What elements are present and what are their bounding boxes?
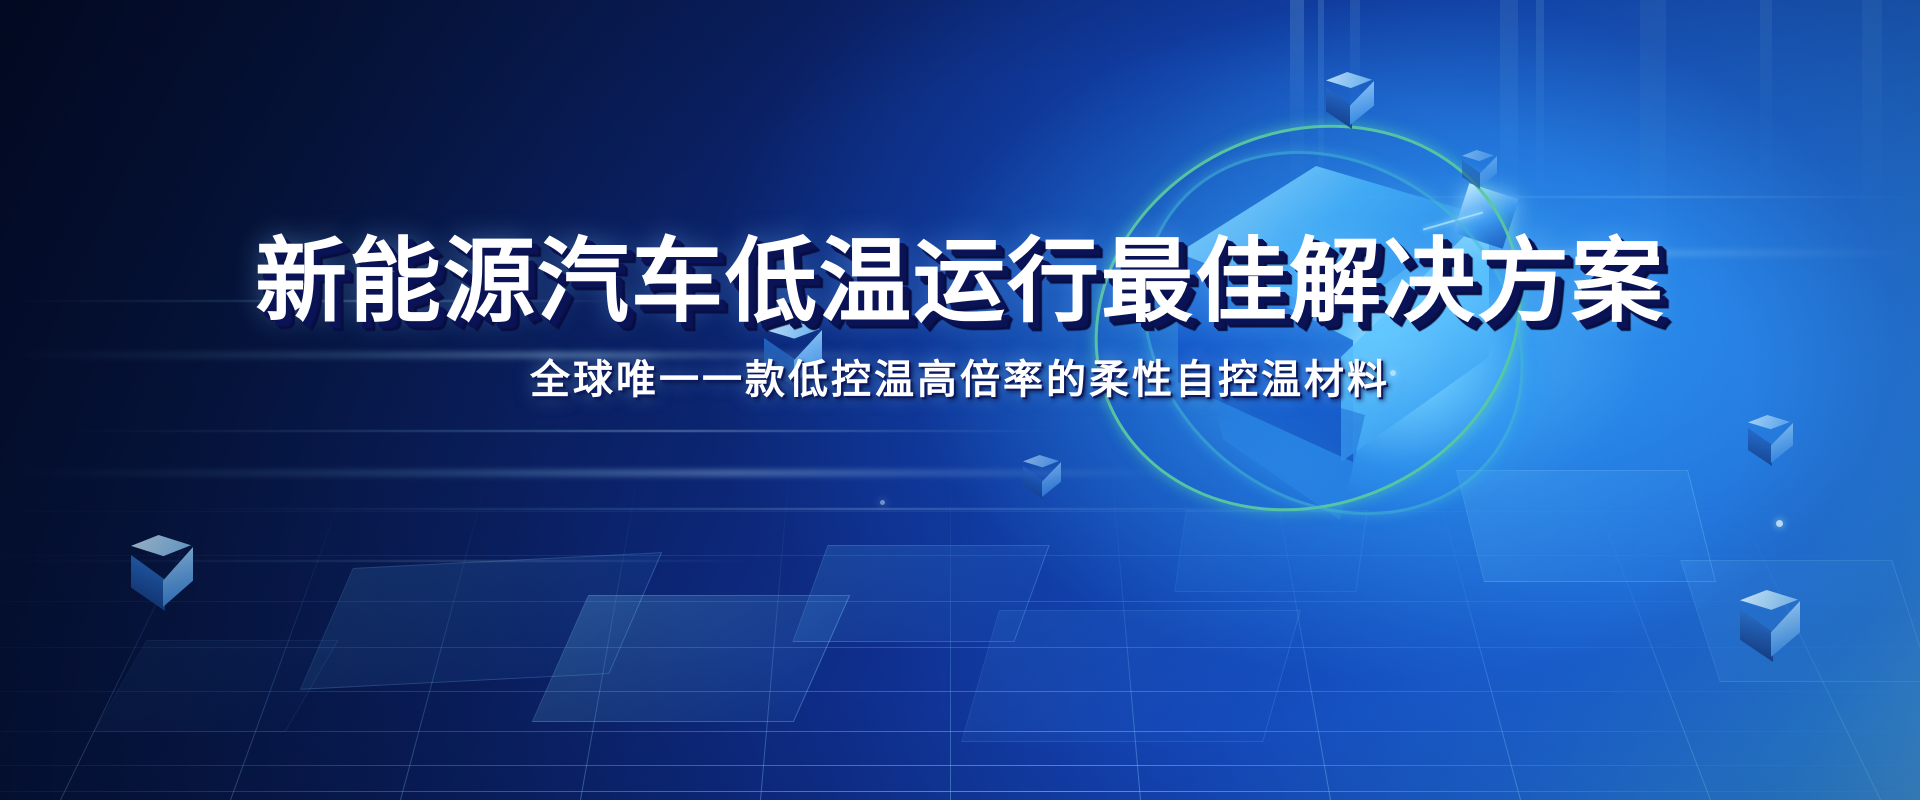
floating-cube (1745, 415, 1797, 467)
floating-cube (1020, 455, 1066, 501)
page-subtitle: 全球唯一一款低控温高倍率的柔性自控温材料 (0, 360, 1920, 400)
floating-cube (125, 535, 205, 615)
light-pillar (1862, 0, 1882, 260)
floating-cube (1322, 72, 1380, 130)
light-pillar (1760, 0, 1772, 210)
decorative-panel (961, 610, 1301, 742)
light-streak (60, 430, 1060, 432)
floating-cube (1735, 590, 1809, 664)
hero-banner: 新能源汽车低温运行最佳解决方案 全球唯一一款低控温高倍率的柔性自控温材料 (0, 0, 1920, 800)
sparkle (880, 500, 885, 505)
banner-text-block: 新能源汽车低温运行最佳解决方案 全球唯一一款低控温高倍率的柔性自控温材料 (0, 236, 1920, 400)
page-title: 新能源汽车低温运行最佳解决方案 (0, 236, 1920, 328)
floating-cube (1460, 150, 1500, 190)
sparkle (1776, 520, 1783, 527)
